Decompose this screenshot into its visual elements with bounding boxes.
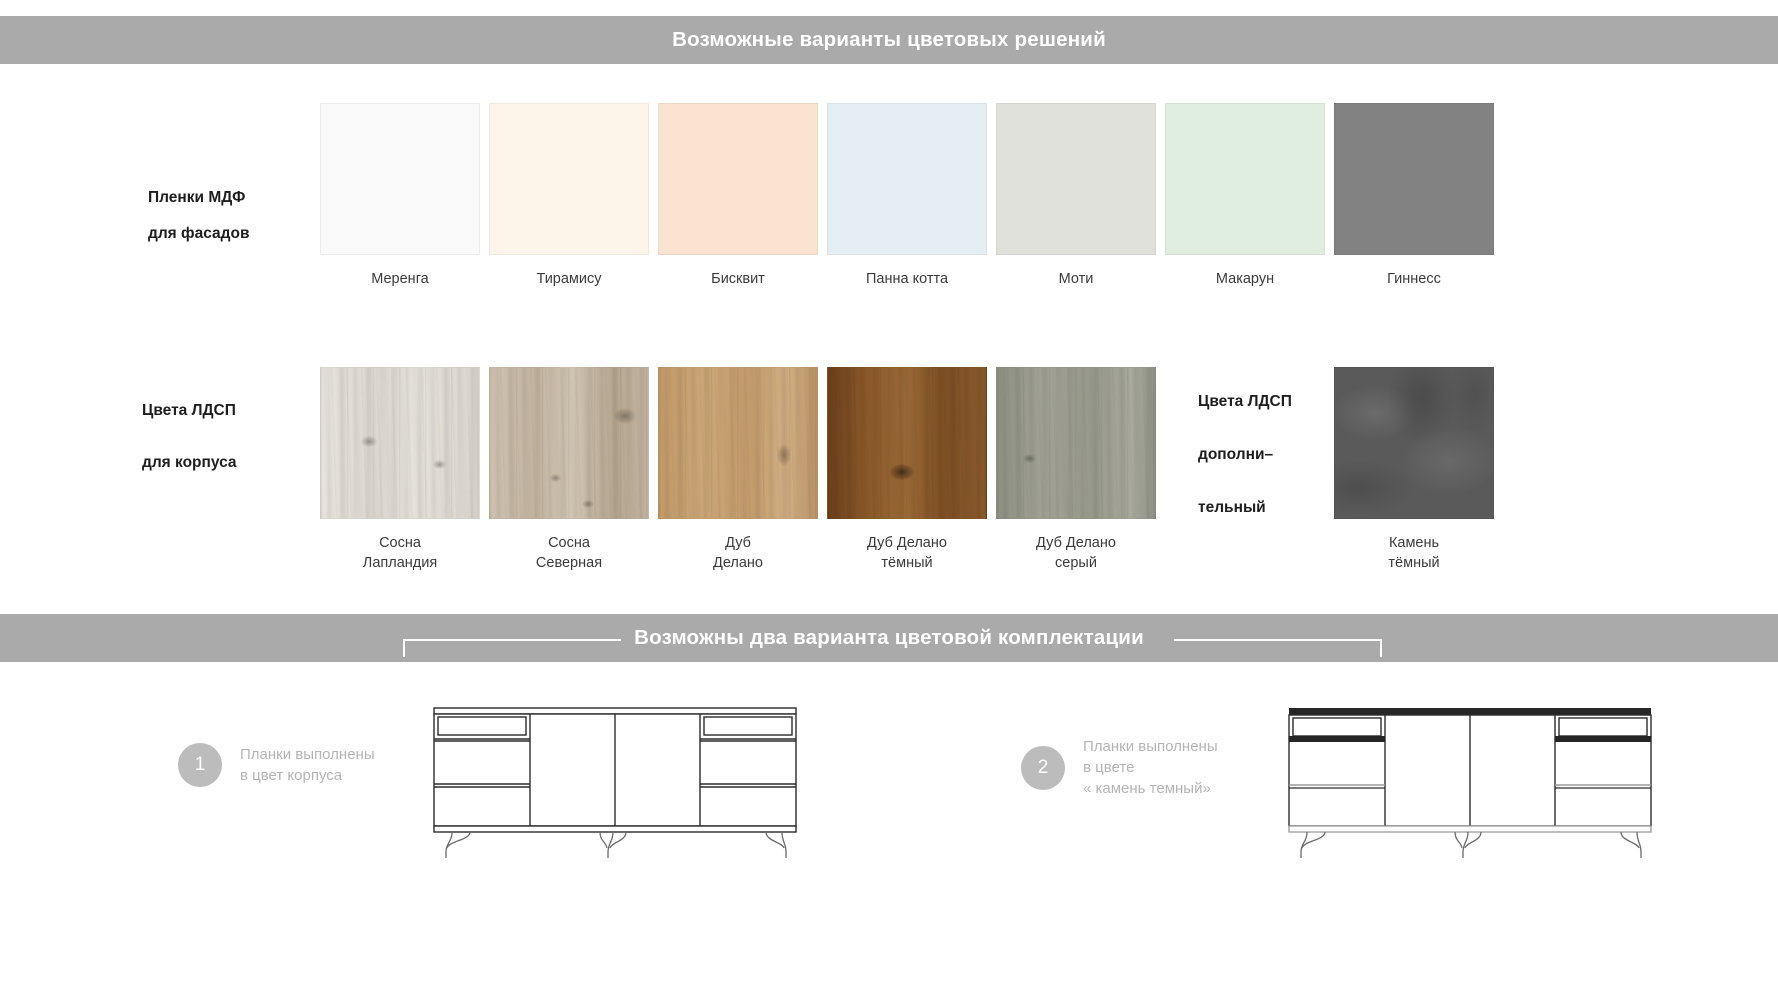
swatch-chip <box>996 367 1156 519</box>
swatch-chip <box>489 367 649 519</box>
swatch-chip <box>1334 367 1494 519</box>
swatch-chip <box>827 103 987 255</box>
mdf-label-line1: Пленки МДФ <box>148 180 245 216</box>
top-banner: Возможные варианты цветовых решений <box>0 16 1778 64</box>
swatch-label: Макарун <box>1216 269 1274 289</box>
ldsp-extra-label-line2: дополни– <box>1198 437 1273 473</box>
swatch-biskvit[interactable]: Бисквит <box>658 103 818 289</box>
ldsp-extra-label-line1: Цвета ЛДСП <box>1198 384 1292 420</box>
swatch-label: Бисквит <box>711 269 765 289</box>
swatch-chip <box>320 103 480 255</box>
middle-banner: Возможны два варианта цветовой комплекта… <box>0 614 1778 662</box>
sideboard-drawing-variant-1 <box>430 700 800 860</box>
bracket-right-decoration <box>1174 639 1382 657</box>
swatch-chip <box>827 367 987 519</box>
ldsp-label-line1: Цвета ЛДСП <box>142 393 236 429</box>
option-1[interactable]: 1 Планки выполнены в цвет корпуса <box>178 743 375 787</box>
swatch-label: Сосна Лапландия <box>363 533 437 573</box>
swatch-dub-delano-temnyy[interactable]: Дуб Делано тёмный <box>827 367 987 573</box>
swatch-label: Камень тёмный <box>1388 533 1439 573</box>
option-1-badge: 1 <box>178 743 222 787</box>
bracket-left-decoration <box>403 639 621 657</box>
mdf-label-line2: для фасадов <box>148 216 249 252</box>
swatch-label: Дуб Делано <box>713 533 763 573</box>
swatch-sosna-laplandiya[interactable]: Сосна Лапландия <box>320 367 480 573</box>
swatch-merenga[interactable]: Меренга <box>320 103 480 289</box>
swatch-label: Сосна Северная <box>536 533 602 573</box>
top-banner-title: Возможные варианты цветовых решений <box>672 28 1106 52</box>
catalog-color-options-page: Возможные варианты цветовых решений Плен… <box>0 0 1778 1000</box>
swatch-chip <box>320 367 480 519</box>
swatch-label: Моти <box>1059 269 1094 289</box>
swatch-label: Гиннесс <box>1387 269 1441 289</box>
swatch-ginness[interactable]: Гиннесс <box>1334 103 1494 289</box>
swatch-label: Дуб Делано серый <box>1036 533 1116 573</box>
swatch-label: Панна котта <box>866 269 948 289</box>
swatch-panna-kotta[interactable]: Панна котта <box>827 103 987 289</box>
swatch-label: Тирамису <box>536 269 601 289</box>
swatch-tiramisu[interactable]: Тирамису <box>489 103 649 289</box>
sideboard-drawing-variant-2 <box>1285 700 1655 860</box>
swatch-dub-delano[interactable]: Дуб Делано <box>658 367 818 573</box>
swatch-chip <box>1165 103 1325 255</box>
option-2[interactable]: 2 Планки выполнены в цвете « камень темн… <box>1021 736 1218 799</box>
option-2-text: Планки выполнены в цвете « камень темный… <box>1083 736 1218 799</box>
swatch-chip <box>1334 103 1494 255</box>
swatch-label: Меренга <box>371 269 428 289</box>
ldsp-label-line2: для корпуса <box>142 445 237 481</box>
swatch-makarun[interactable]: Макарун <box>1165 103 1325 289</box>
swatch-moti[interactable]: Моти <box>996 103 1156 289</box>
middle-banner-title: Возможны два варианта цветовой комплекта… <box>614 626 1164 650</box>
option-1-text: Планки выполнены в цвет корпуса <box>240 744 375 786</box>
swatch-chip <box>489 103 649 255</box>
swatch-label: Дуб Делано тёмный <box>867 533 947 573</box>
swatch-dub-delano-seryy[interactable]: Дуб Делано серый <box>996 367 1156 573</box>
swatch-chip <box>658 103 818 255</box>
swatch-kamen-temnyy[interactable]: Камень тёмный <box>1334 367 1494 573</box>
swatch-chip <box>996 103 1156 255</box>
swatch-sosna-severnaya[interactable]: Сосна Северная <box>489 367 649 573</box>
option-2-badge: 2 <box>1021 746 1065 790</box>
ldsp-extra-label-line3: тельный <box>1198 490 1266 526</box>
swatch-chip <box>658 367 818 519</box>
